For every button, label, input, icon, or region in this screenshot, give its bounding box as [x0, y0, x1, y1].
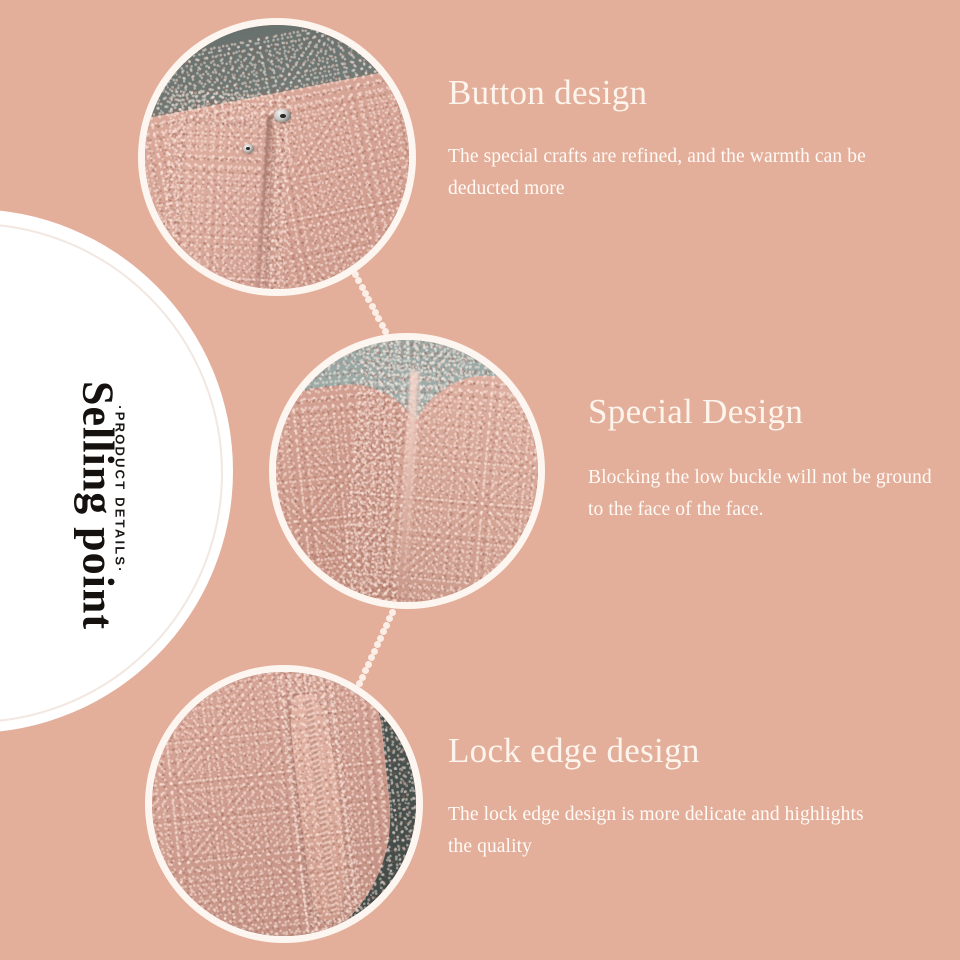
fleece-texture: [331, 340, 538, 602]
connector-dot: [382, 328, 389, 335]
connector-dot: [386, 615, 393, 622]
connector-dot: [377, 635, 384, 642]
connector-dot: [379, 322, 386, 329]
connector-dot: [380, 628, 387, 635]
feature-photo-button-design: [145, 25, 409, 289]
connector-dot: [374, 641, 381, 648]
connector-dot: [383, 622, 390, 629]
selling-point-circle: [0, 215, 227, 727]
feature-heading: Special Design: [588, 393, 948, 432]
fleece-fabric: [152, 672, 405, 936]
connector-dot: [365, 661, 372, 668]
connector-dot: [368, 654, 375, 661]
snap-button-icon: [243, 144, 254, 153]
connector-dot: [372, 309, 379, 316]
connector-dot: [365, 296, 372, 303]
connector-dot: [375, 315, 382, 322]
feature-text-special-design: Special Design Blocking the low buckle w…: [588, 393, 948, 526]
connector-dot: [371, 648, 378, 655]
feature-text-lock-edge-design: Lock edge design The lock edge design is…: [448, 732, 878, 863]
connector-dot: [389, 609, 396, 616]
feature-photo-lock-edge-design: [152, 672, 416, 936]
feature-body: The special crafts are refined, and the …: [448, 141, 918, 205]
feature-heading: Lock edge design: [448, 732, 878, 771]
feature-body: Blocking the low buckle will not be grou…: [588, 462, 948, 526]
feature-heading: Button design: [448, 74, 918, 113]
feature-photo-special-design: [276, 340, 538, 602]
feature-text-button-design: Button design The special crafts are ref…: [448, 74, 918, 205]
infographic-canvas: Selling point ·PRODUCT DETAILS·: [0, 0, 960, 960]
fleece-texture: [159, 90, 293, 289]
connector-dot: [369, 303, 376, 310]
feature-body: The lock edge design is more delicate an…: [448, 799, 878, 863]
connector-dot: [362, 290, 369, 297]
